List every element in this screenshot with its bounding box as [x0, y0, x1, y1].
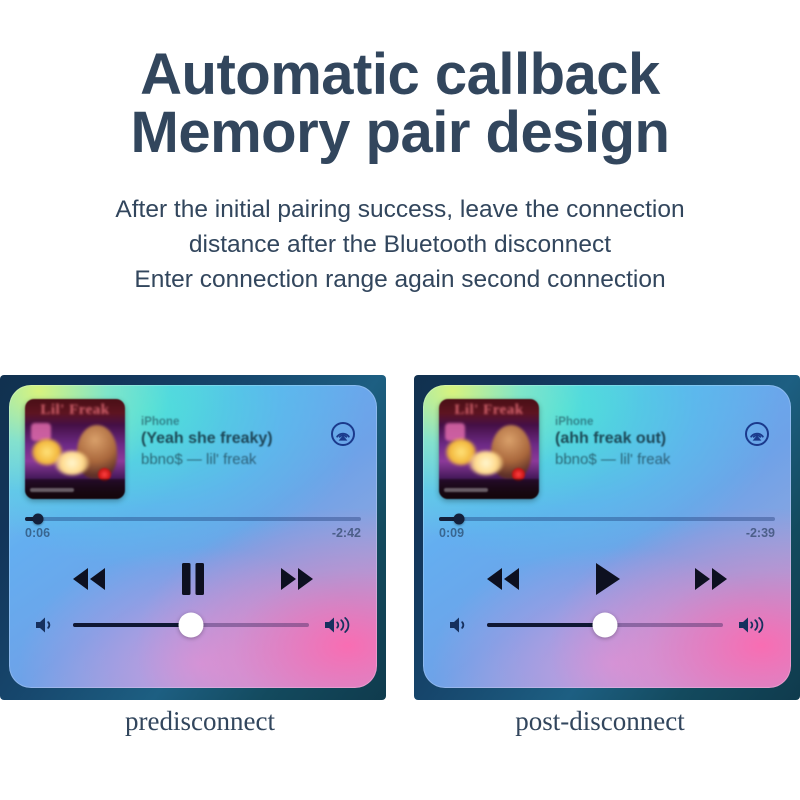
captions-row: predisconnect post-disconnect	[0, 706, 800, 737]
volume-fill	[487, 623, 605, 627]
volume-section	[439, 614, 775, 636]
artwork-shape	[469, 451, 503, 475]
headline-line-1: Automatic callback	[0, 46, 800, 104]
volume-knob[interactable]	[179, 613, 204, 638]
progress-slider[interactable]	[25, 517, 361, 521]
fast-forward-icon[interactable]	[265, 557, 327, 601]
progress-section: 0:06 -2:42	[25, 517, 361, 540]
artwork-shape	[55, 451, 89, 475]
device-label: iPhone	[555, 415, 743, 429]
rewind-icon[interactable]	[59, 557, 121, 601]
time-row: 0:09 -2:39	[439, 526, 775, 540]
track-info: iPhone (Yeah she freaky) bbno$ — lil' fr…	[141, 415, 329, 470]
progress-knob[interactable]	[33, 514, 44, 525]
subtitle-line-2: distance after the Bluetooth disconnect	[0, 227, 800, 262]
airplay-icon[interactable]	[329, 421, 357, 449]
volume-low-icon[interactable]	[447, 614, 473, 636]
volume-low-icon[interactable]	[33, 614, 59, 636]
volume-high-icon[interactable]	[323, 614, 355, 636]
time-row: 0:06 -2:42	[25, 526, 361, 540]
subtitle-block: After the initial pairing success, leave…	[0, 192, 800, 297]
device-label: iPhone	[141, 415, 329, 429]
artwork-footer	[439, 479, 539, 499]
artwork-footer-bar	[444, 488, 488, 492]
track-row: Lil' Freak iPhone (ahh freak out) bbno$ …	[439, 399, 775, 511]
fast-forward-icon[interactable]	[679, 557, 741, 601]
volume-knob[interactable]	[593, 613, 618, 638]
page-title: Automatic callback Memory pair design	[0, 46, 800, 162]
headline-block: Automatic callback Memory pair design Af…	[0, 0, 800, 297]
track-title: (ahh freak out)	[555, 429, 743, 450]
track-title: (Yeah she freaky)	[141, 429, 329, 450]
volume-slider[interactable]	[73, 623, 309, 627]
artwork-footer-bar	[30, 488, 74, 492]
player-cards-row: Lil' Freak iPhone (Yeah she freaky) bbno…	[0, 375, 800, 700]
track-artist: bbno$ — lil' freak	[141, 450, 329, 470]
elapsed-time: 0:09	[439, 526, 464, 540]
elapsed-time: 0:06	[25, 526, 50, 540]
progress-knob[interactable]	[454, 514, 465, 525]
player-card-predisconnect: Lil' Freak iPhone (Yeah she freaky) bbno…	[0, 375, 386, 700]
album-art-title: Lil' Freak	[439, 402, 539, 419]
play-icon[interactable]	[576, 557, 638, 601]
headline-line-2: Memory pair design	[0, 104, 800, 162]
caption-predisconnect: predisconnect	[0, 706, 400, 737]
album-artwork: Lil' Freak	[439, 399, 539, 499]
track-info: iPhone (ahh freak out) bbno$ — lil' frea…	[555, 415, 743, 470]
transport-controls	[25, 552, 361, 606]
volume-section	[25, 614, 361, 636]
volume-slider[interactable]	[487, 623, 723, 627]
track-artist: bbno$ — lil' freak	[555, 450, 743, 470]
subtitle-line-3: Enter connection range again second conn…	[0, 262, 800, 297]
rewind-icon[interactable]	[473, 557, 535, 601]
artwork-footer	[25, 479, 125, 499]
album-artwork: Lil' Freak	[25, 399, 125, 499]
progress-slider[interactable]	[439, 517, 775, 521]
album-art-title: Lil' Freak	[25, 402, 125, 419]
pause-icon[interactable]	[162, 557, 224, 601]
now-playing-panel: Lil' Freak iPhone (Yeah she freaky) bbno…	[9, 385, 377, 688]
now-playing-panel: Lil' Freak iPhone (ahh freak out) bbno$ …	[423, 385, 791, 688]
progress-section: 0:09 -2:39	[439, 517, 775, 540]
player-card-post-disconnect: Lil' Freak iPhone (ahh freak out) bbno$ …	[414, 375, 800, 700]
transport-controls	[439, 552, 775, 606]
caption-post-disconnect: post-disconnect	[400, 706, 800, 737]
remaining-time: -2:39	[746, 526, 775, 540]
remaining-time: -2:42	[332, 526, 361, 540]
track-row: Lil' Freak iPhone (Yeah she freaky) bbno…	[25, 399, 361, 511]
volume-fill	[73, 623, 191, 627]
airplay-icon[interactable]	[743, 421, 771, 449]
volume-high-icon[interactable]	[737, 614, 769, 636]
subtitle-line-1: After the initial pairing success, leave…	[0, 192, 800, 227]
